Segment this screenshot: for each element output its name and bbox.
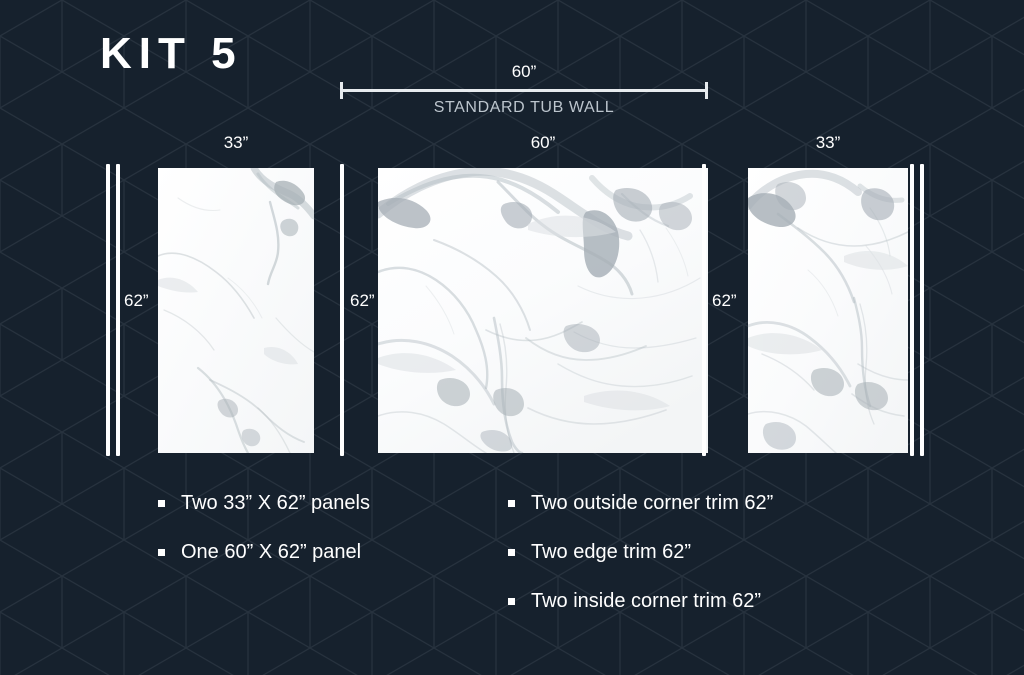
right-panel-height-label: 62”: [712, 291, 737, 311]
page-title: KIT 5: [100, 32, 243, 76]
legend-trim-column: Two outside corner trim 62” Two edge tri…: [508, 492, 773, 639]
legend-label: Two edge trim 62”: [531, 541, 691, 564]
bullet-square-icon: [508, 598, 515, 605]
bullet-square-icon: [158, 500, 165, 507]
inside-corner-trim-left: [340, 164, 344, 456]
center-panel: [378, 168, 708, 453]
tub-wall-dimension-value: 60”: [341, 62, 707, 82]
kit-layout-diagram: KIT 5 60” STANDARD TUB WALL 33” 60” 33” …: [0, 0, 1024, 675]
bullet-square-icon: [158, 549, 165, 556]
bullet-square-icon: [508, 549, 515, 556]
right-panel-width-label: 33”: [748, 133, 908, 153]
left-panel-height-label: 62”: [124, 291, 149, 311]
tub-wall-dimension-line: [341, 89, 707, 92]
legend-label: Two outside corner trim 62”: [531, 492, 773, 515]
right-panel: [748, 168, 908, 453]
list-item: Two 33” X 62” panels: [158, 492, 370, 515]
dimension-cap-left: [340, 82, 343, 99]
edge-trim-left: [116, 164, 120, 456]
center-panel-width-label: 60”: [378, 133, 708, 153]
center-panel-height-label: 62”: [350, 291, 375, 311]
list-item: Two edge trim 62”: [508, 541, 773, 564]
list-item: One 60” X 62” panel: [158, 541, 370, 564]
list-item: Two inside corner trim 62”: [508, 590, 773, 613]
legend-label: Two inside corner trim 62”: [531, 590, 761, 613]
legend-panels-column: Two 33” X 62” panels One 60” X 62” panel: [158, 492, 370, 590]
outside-corner-trim-right-outer: [910, 164, 914, 456]
dimension-cap-right: [705, 82, 708, 99]
left-panel-width-label: 33”: [158, 133, 314, 153]
legend-label: Two 33” X 62” panels: [181, 492, 370, 515]
outside-corner-trim-left-outer: [106, 164, 110, 456]
list-item: Two outside corner trim 62”: [508, 492, 773, 515]
inside-corner-trim-right: [702, 164, 706, 456]
bullet-square-icon: [508, 500, 515, 507]
tub-wall-caption: STANDARD TUB WALL: [341, 99, 707, 117]
left-panel: [158, 168, 314, 453]
edge-trim-right: [920, 164, 924, 456]
legend-label: One 60” X 62” panel: [181, 541, 361, 564]
